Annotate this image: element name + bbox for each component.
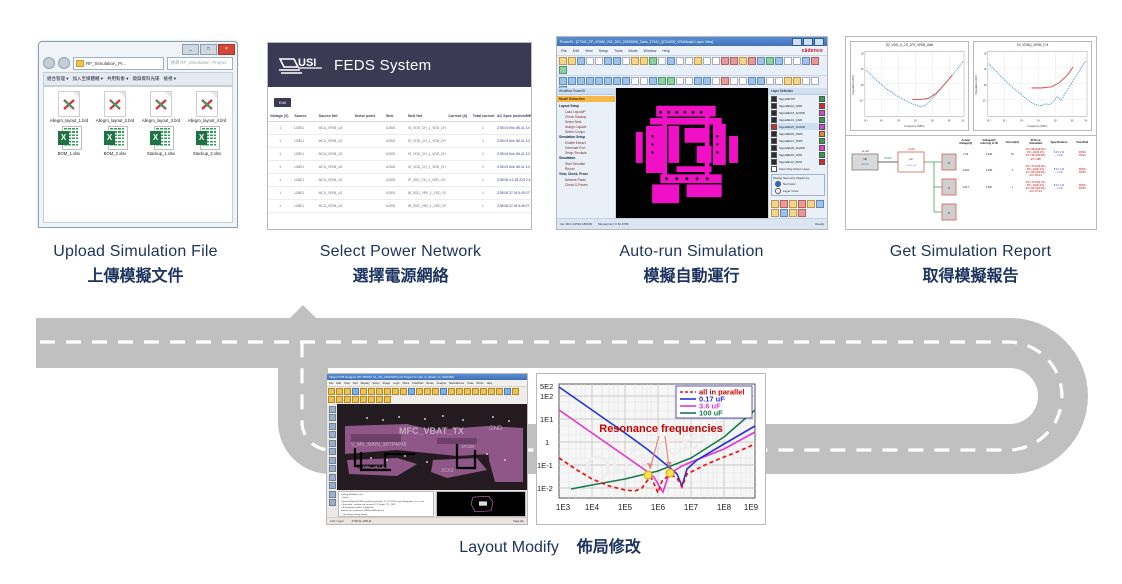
layout-canvas[interactable] — [616, 88, 768, 219]
tool-icon[interactable] — [329, 440, 336, 447]
svg-text:V_MK_MAIN_3P7P4P45: V_MK_MAIN_3P7P4P45 — [351, 442, 407, 448]
xtick-1e5: 1E5 — [618, 503, 633, 512]
layer-color-swatch[interactable] — [819, 117, 825, 123]
layer-row[interactable]: Signal$L08_SH/RD — [769, 144, 827, 151]
cell-sink: U2801 — [384, 174, 406, 187]
layer-color-swatch[interactable] — [819, 124, 825, 130]
list-item[interactable]: X BOM_2.xlsx — [92, 126, 138, 157]
xtick-1e4: 1E4 — [585, 503, 600, 512]
menu-view[interactable]: View — [344, 382, 350, 385]
svg-text:3P33B: 3P33B — [461, 444, 474, 449]
radio-label: Layer Color — [783, 189, 821, 193]
radio-icon[interactable] — [775, 188, 781, 194]
brd-file-icon — [196, 91, 218, 117]
radio-icon[interactable] — [775, 181, 781, 187]
step-label-zh: 選擇電源網絡 — [283, 264, 518, 290]
resonance-marker-2 — [666, 469, 674, 477]
file-name: Allegro_layout_3.brd — [142, 119, 180, 124]
back-icon[interactable] — [43, 57, 55, 69]
table-row[interactable]: 1 U2801 MCU_VR05_U2 U2801 IO_VDD_CH_1_VD… — [268, 122, 531, 135]
workflow-section-model-extraction[interactable]: Model Extraction — [557, 96, 615, 102]
cell-passfail: PASS PASS — [1071, 146, 1094, 162]
cell-voltage: 1 — [268, 148, 292, 161]
layer-row[interactable]: Signal$L06_PWR — [769, 130, 827, 137]
ytick-1e2: 1E2 — [540, 392, 553, 401]
layer-selection-panel[interactable]: Layer Selection Signal$TOP Signal$L02_GN… — [768, 88, 827, 219]
window-title: PowerSI - [C7341_XP_VRAM_V01_D01_2022060… — [560, 40, 789, 44]
col-sink: Sink — [384, 111, 406, 122]
cell-ac-spec: Z:55.06 37.04 5:49.07 100.70 Freq1:1000.… — [495, 187, 531, 200]
command-log[interactable]: e:/allegro/brd/pcb.cmd > Setup Opened /E… — [338, 491, 434, 517]
toolbar-item-addlibrary[interactable]: 加入至媒體櫃 ▾ — [73, 76, 104, 82]
window-controls[interactable]: _ □ × — [182, 44, 235, 55]
pcb-layout-canvas[interactable]: MFC_VBAT_TX GND V_MK_MAIN_3P7P4P45 3P33B… — [337, 404, 527, 490]
cell-sink-net: IO_VDD_CH_1_VDD_CH — [406, 161, 447, 174]
cell-current — [446, 148, 470, 161]
view-only-active-layer-checkbox[interactable]: View Only Active Layer — [769, 165, 827, 172]
menu-mode[interactable]: Mode — [629, 49, 638, 53]
radio-layer-color[interactable]: Layer Color — [773, 187, 823, 194]
layer-color-swatch[interactable] — [819, 159, 825, 165]
table-row: 1.017 1.007 1 dV=-73.64(0.7%) dV=-104(0.… — [954, 179, 1094, 195]
feds-title: FEDS System — [334, 57, 431, 74]
explorer-address-bar: RF_Simulation_Pr... 搜尋 RF_Simulation_Pro… — [43, 56, 233, 70]
cell-drop: dV=-58.94(0.3%) dV=-104(0.1%) dV=-35.94(… — [1024, 146, 1047, 162]
table-header-row: Actual Voltage(V) Voltage(V) referring t… — [954, 138, 1094, 146]
layer-visibility-icon[interactable] — [771, 145, 777, 151]
tool-icon[interactable] — [329, 448, 336, 455]
pcb-bottom-docks: e:/allegro/brd/pcb.cmd > Setup Opened /E… — [337, 490, 527, 518]
list-item[interactable]: Allegro_layout_1.brd — [46, 91, 92, 124]
mouse-coords: Mouse(mm) X 81.3789 — [598, 222, 629, 226]
cadence-menu-bar[interactable]: File Edit View Setup Tools Mode Window H… — [557, 46, 827, 56]
svg-text:U: U — [948, 186, 950, 190]
layer-name: Signal$L10_BTM — [779, 160, 817, 164]
cell-sink-net: IO_VDD_CH_1_VDD_CH — [406, 135, 447, 148]
impedance-chart-2: S2_VDDQ_VR05_174 Impedance (ohm) Frequen… — [973, 41, 1092, 131]
svg-text:USI: USI — [298, 57, 316, 69]
svg-text:10⁰: 10⁰ — [984, 84, 987, 87]
tool-icon[interactable] — [329, 491, 336, 498]
svg-text:Impedance (ohm): Impedance (ohm) — [975, 75, 978, 95]
file-grid: Allegro_layout_1.brd Allegro_layout_2.br… — [44, 87, 232, 161]
file-name: BOM_2.xlsx — [104, 152, 127, 157]
cell-spec: 5.0 / 1 % - / 1 % — [1047, 146, 1070, 162]
cell-ac-spec: Z:55.04 Ib/s: 86.41 3.0 OH Freq1:1000.00 — [495, 122, 531, 135]
xtick-1e8: 1E8 — [717, 503, 732, 512]
menu-skill[interactable]: SKILL — [476, 382, 483, 385]
workflow-panel-title: Workflow PowerSI — [557, 88, 615, 95]
ytick-1: 1 — [545, 438, 549, 447]
cell-voltage: 1 — [268, 174, 292, 187]
layer-row[interactable]: Signal$L02_GND — [769, 102, 827, 109]
cell-source: U2801 — [292, 135, 316, 148]
layer-name: Signal$L07_PWR — [779, 139, 817, 143]
layer-visibility-icon[interactable] — [771, 110, 777, 116]
layer-color-swatch[interactable] — [819, 96, 825, 102]
address-text: RF_Simulation_Pr... — [86, 61, 126, 66]
tool-icon[interactable] — [329, 482, 336, 489]
file-name: Allegro_layout_4.brd — [188, 119, 226, 124]
layer-name: Signal$L03_SH/RD — [779, 111, 817, 115]
col-voltage: Voltage (V) — [268, 111, 292, 122]
cell-current: 1 — [1001, 163, 1024, 179]
table-row[interactable]: 1 U2801 MCU_VR05_U2 U2801 IO_VDD_CH_1_VD… — [268, 135, 531, 148]
svg-text:10²: 10² — [861, 52, 864, 55]
usi-logo-icon: USI — [278, 54, 324, 76]
layer-name: Signal$L05_SH/RD — [779, 125, 817, 129]
step-caption-bottom: Layout Modify 佈局修改 — [380, 533, 720, 557]
col-ac-spec: AC Spec (mohm/MHz) — [495, 111, 531, 122]
checkbox-label: View Only Active Layer — [779, 167, 825, 171]
svg-text:10¹: 10¹ — [1037, 119, 1040, 122]
menu-add[interactable]: Add — [353, 382, 358, 385]
tool-icon[interactable] — [329, 499, 336, 506]
cell-source: U2801 — [292, 174, 316, 187]
cell-source-net: MCU_VR05_U2 — [317, 161, 353, 174]
menu-place[interactable]: Place — [403, 382, 410, 385]
cell-actual: 1.004 — [954, 163, 977, 179]
menu-setup[interactable]: Setup — [599, 49, 608, 53]
address-input[interactable]: RF_Simulation_Pr... — [73, 57, 164, 70]
col-ir-drop: IR Drop Simulated — [1024, 138, 1047, 146]
cell-ac-spec: Z:55.04 Ib/s: 86.41 3.0 OH Freq1:1000.00 — [495, 148, 531, 161]
step-label-en: Select Power Network — [283, 240, 518, 264]
menu-analyze[interactable]: Analyze — [437, 382, 447, 385]
svg-text:10⁴: 10⁴ — [961, 118, 964, 122]
irdrop-schematic: +1.20 VR 1.2 1.2 #VNET -1.20 U2 0 -0.1 1… — [848, 138, 958, 226]
cell-current: 1 — [1001, 179, 1024, 195]
menu-edit[interactable]: Edit — [573, 49, 579, 53]
layer-visibility-icon[interactable] — [771, 159, 777, 165]
svg-text:10³: 10³ — [948, 119, 951, 122]
table-row: 1.20 1.200 45 dV=-58.94(0.3%) dV=-104(0.… — [954, 146, 1094, 162]
layer-visibility-icon[interactable] — [771, 152, 777, 158]
layer-row[interactable]: Signal$L10_BTM — [769, 158, 827, 165]
bottom-step-label: Layout Modify 佈局修改 — [380, 533, 720, 557]
layer-row[interactable]: Signal$L04_GND — [769, 116, 827, 123]
layer-color-swatch[interactable] — [819, 138, 825, 144]
feds-toolbar: Edit — [268, 87, 531, 111]
toolbar-item-shareto[interactable]: 共用對象 ▾ — [107, 76, 129, 82]
step-label-zh: 上傳模擬文件 — [18, 264, 253, 290]
step-label-en: Get Simulation Report — [853, 240, 1088, 264]
cell-sense — [353, 200, 384, 213]
step-caption-4: Get Simulation Report 取得模擬報告 — [853, 240, 1088, 290]
pcb-menu-bar[interactable]: File Edit View Add Display Setup Shape L… — [327, 380, 527, 387]
menu-logic[interactable]: Logic — [393, 382, 399, 385]
cell-total: 1 — [471, 122, 495, 135]
report-irdrop-section: +1.20 VR 1.2 1.2 #VNET -1.20 U2 0 -0.1 1… — [846, 135, 1096, 226]
maximize-icon[interactable]: □ — [200, 44, 217, 55]
version-text: Ver 18.0.4.0501.180606 — [560, 222, 592, 226]
cell-spec: 5.0 / 1 % - / 1 % — [1047, 179, 1070, 195]
tool-icon[interactable] — [329, 474, 336, 481]
svg-text:10²: 10² — [1054, 119, 1057, 122]
cadence-main-area: Workflow PowerSI Model Extraction Layout… — [557, 88, 827, 219]
ready-status: Ready — [815, 222, 824, 226]
layer-row-selected[interactable]: Signal$L05_SH/RD — [769, 123, 827, 130]
cell-ref: 1.000 — [977, 163, 1000, 179]
panel-impedance-resonance-chart: Quadcept Resonance frequencies — [536, 373, 766, 525]
status-right: Stage-Idle — [513, 520, 524, 523]
layer-name: Signal$TOP — [779, 97, 817, 101]
svg-text:Frequency (MHz): Frequency (MHz) — [905, 124, 925, 128]
cadence-brand-logo: cādence — [802, 48, 823, 54]
tool-icon[interactable] — [329, 465, 336, 472]
step-label-en: Auto-run Simulation — [574, 240, 809, 264]
ytick-5e2: 5E2 — [540, 382, 553, 391]
workflow-item-check-s-parameter[interactable]: Check S-Param — [557, 182, 615, 187]
list-item[interactable]: X Stackup_1.xlsx — [138, 126, 184, 157]
col-actual-voltage: Actual Voltage(V) — [954, 138, 977, 146]
bottom-step-zh: 佈局修改 — [577, 539, 641, 556]
menu-file[interactable]: File — [561, 49, 567, 53]
status-left: Cmd > Layer — [330, 520, 344, 523]
step-caption-3: Auto-run Simulation 模擬自動運行 — [574, 240, 809, 290]
cell-sink-net: IO_VDD_CH_1_VDD_CH — [406, 122, 447, 135]
table-row[interactable]: 1 U2801 MCU_VR05_U2 U2801 IP_VDD_CH_1_VD… — [268, 174, 531, 187]
feds-header: USI FEDS System — [268, 43, 531, 87]
checkbox-icon[interactable] — [771, 166, 777, 172]
menu-tools[interactable]: Tools — [467, 382, 473, 385]
layer-visibility-icon[interactable] — [771, 138, 777, 144]
layer-color-swatch[interactable] — [819, 152, 825, 158]
cell-current — [446, 174, 470, 187]
xlsx-file-icon: X — [58, 126, 80, 150]
window-controls[interactable] — [792, 38, 824, 46]
xtick-1e9: 1E9 — [744, 503, 759, 512]
svg-text:GND: GND — [489, 426, 503, 432]
svg-text:10⁴: 10⁴ — [1084, 118, 1087, 122]
cell-total: 1 — [471, 161, 495, 174]
cell-source: U2801 — [292, 161, 316, 174]
close-icon[interactable] — [814, 38, 824, 46]
panel-select-power-network: USI FEDS System Edit Voltage (V) Source … — [267, 42, 532, 230]
layer-name: Signal$L08_SH/RD — [779, 146, 817, 150]
cell-current — [446, 135, 470, 148]
tool-icon[interactable] — [329, 423, 336, 430]
file-name: Allegro_layout_1.brd — [50, 119, 88, 124]
cell-voltage: 1 — [268, 187, 292, 200]
explorer-file-list: Allegro_layout_1.brd Allegro_layout_2.br… — [43, 86, 233, 223]
cell-sink: U2801 — [384, 148, 406, 161]
close-icon[interactable]: × — [218, 44, 235, 55]
layer-row[interactable]: Signal$L09_GND — [769, 151, 827, 158]
table-row[interactable]: 1 U2801 MCU_VR05_U2 U2801 IO_VDD_CH_1_VD… — [268, 148, 531, 161]
svg-text:10¹: 10¹ — [984, 68, 987, 71]
cell-source: U2801 — [292, 148, 316, 161]
cell-sense — [353, 161, 384, 174]
list-item[interactable]: Allegro_layout_2.brd — [92, 91, 138, 124]
menu-display[interactable]: Display — [361, 382, 370, 385]
bottom-step-en: Layout Modify — [459, 539, 559, 556]
menu-edit[interactable]: Edit — [336, 382, 341, 385]
cell-sense — [353, 135, 384, 148]
resonance-annotation-label: Resonance frequencies — [599, 423, 723, 435]
menu-view[interactable]: View — [585, 49, 593, 53]
cell-source-net: MCU_VR05_U2 — [317, 200, 353, 213]
explorer-toolbar[interactable]: 組合管理 ▾ 加入至媒體櫃 ▾ 共用對象 ▾ 燒錄資料光碟 檢視 ▾ — [43, 72, 233, 86]
menu-help[interactable]: Help — [487, 382, 493, 385]
toolbar-item-organize[interactable]: 組合管理 ▾ — [47, 76, 69, 82]
cell-voltage: 1 — [268, 200, 292, 213]
cell-source: U2801 — [292, 187, 316, 200]
menu-route[interactable]: Route — [426, 382, 433, 385]
cell-voltage: 1 — [268, 122, 292, 135]
xlsx-file-icon: X — [104, 126, 126, 150]
ytick-1em2: 1E-2 — [537, 484, 553, 493]
cell-voltage: 1 — [268, 135, 292, 148]
panel-get-simulation-report: S2_VDD_0_CS_1P2_VR05_U8A Impedance (ohm)… — [845, 36, 1097, 230]
forward-icon[interactable] — [58, 57, 70, 69]
xlsx-file-icon: X — [196, 126, 218, 150]
menu-tools[interactable]: Tools — [614, 49, 622, 53]
layer-visibility-icon[interactable] — [771, 96, 777, 102]
svg-text:VR: VR — [863, 157, 867, 161]
maximize-icon[interactable] — [803, 38, 813, 46]
col-pass-fail: Pass/Fail — [1071, 138, 1094, 146]
cell-total: 1 — [471, 148, 495, 161]
cell-sink-net: IB_VDD_VR0_1_VDD_VR0 — [406, 200, 447, 213]
col-current: Current (A) — [446, 111, 470, 122]
list-item[interactable]: Allegro_layout_4.brd — [184, 91, 230, 124]
step-label-en: Upload Simulation File — [18, 240, 253, 264]
cell-sink: U2801 — [384, 161, 406, 174]
search-placeholder: 搜尋 RF_Simulation_Project — [170, 60, 226, 66]
toolbar-item-view[interactable]: 檢視 ▾ — [164, 76, 177, 82]
flow-diagram: _ □ × RF_Simulation_Pr... 搜尋 RF_Simulati… — [0, 0, 1122, 584]
ytick-1e1: 1E1 — [540, 415, 553, 424]
cell-total: 1 — [471, 200, 495, 213]
tool-icon[interactable] — [329, 414, 336, 421]
layer-row[interactable]: Signal$L07_PWR — [769, 137, 827, 144]
svg-text:1.2 1.2: 1.2 1.2 — [861, 163, 869, 166]
menu-help[interactable]: Help — [662, 49, 669, 53]
cell-source-net: MCU_VR05_U2 — [317, 135, 353, 148]
cell-sink: U2801 — [384, 200, 406, 213]
cell-source: U2801 — [292, 122, 316, 135]
toolbar-item-burn[interactable]: 燒錄資料光碟 — [133, 76, 160, 82]
table-row[interactable]: 1 U2801 MCU_VR05_U2 U2801 IB_VDD_VR0_1_V… — [268, 200, 531, 213]
xtick-1e3: 1E3 — [556, 503, 571, 512]
svg-text:10²: 10² — [931, 119, 934, 122]
file-name: Stackup_2.xlsx — [193, 152, 221, 157]
ytick-1em1: 1E-1 — [537, 461, 553, 470]
col-sink-net: Sink Net — [406, 111, 447, 122]
pcb-toolbar-row1[interactable] — [327, 387, 527, 405]
cell-total: 1 — [471, 174, 495, 187]
col-ref-voltage: Voltage(V) referring to IR — [977, 138, 1000, 146]
menu-manufacture[interactable]: Manufacture — [449, 382, 464, 385]
radio-label: Net Color — [783, 182, 821, 186]
menu-setup[interactable]: Setup — [372, 382, 379, 385]
svg-text:#VNET: #VNET — [884, 157, 892, 160]
layer-visibility-icon[interactable] — [771, 103, 777, 109]
xtick-1e7: 1E7 — [684, 503, 699, 512]
cell-source: U2801 — [292, 200, 316, 213]
table-row[interactable]: 1 U2801 MCU_VR05_U2 U2801 IB_VDD_VR0_1_V… — [268, 187, 531, 200]
cell-current — [446, 187, 470, 200]
cell-sense — [353, 122, 384, 135]
svg-text:PMIC_NET_B: PMIC_NET_B — [363, 465, 385, 469]
svg-text:10³: 10³ — [1071, 119, 1074, 122]
layer-visibility-icon[interactable] — [771, 117, 777, 123]
layer-visibility-icon[interactable] — [771, 124, 777, 130]
step-caption-1: Upload Simulation File 上傳模擬文件 — [18, 240, 253, 290]
status-coords: P 390.04, 2059.40 — [352, 520, 372, 523]
layer-color-swatch[interactable] — [819, 145, 825, 151]
list-item[interactable]: X BOM_1.xlsx — [46, 126, 92, 157]
list-item[interactable]: Allegro_layout_3.brd — [138, 91, 184, 124]
layer-color-swatch[interactable] — [819, 110, 825, 116]
step-label-zh: 取得模擬報告 — [853, 264, 1088, 290]
menu-window[interactable]: Window — [644, 49, 657, 53]
layer-color-swatch[interactable] — [819, 103, 825, 109]
file-name: Stackup_1.xlsx — [147, 152, 175, 157]
cell-source-net: MCU_VR05_U2 — [317, 148, 353, 161]
pcb-status-bar: Cmd > Layer P 390.04, 2059.40 Stage-Idle — [327, 517, 527, 524]
svg-text:JCX3: JCX3 — [441, 468, 453, 474]
workflow-panel[interactable]: Workflow PowerSI Model Extraction Layout… — [557, 88, 616, 219]
power-network-table: Voltage (V) Source Source Net Sense poin… — [268, 111, 531, 213]
tool-icon[interactable] — [329, 406, 336, 413]
layer-color-swatch[interactable] — [819, 131, 825, 137]
step-caption-2: Select Power Network 選擇電源網絡 — [283, 240, 518, 290]
layer-visibility-icon[interactable] — [771, 131, 777, 137]
col-current: Current(A) — [1001, 138, 1024, 146]
world-view-mini[interactable] — [436, 491, 526, 517]
folder-icon — [76, 60, 84, 67]
search-input[interactable]: 搜尋 RF_Simulation_Project — [167, 57, 233, 70]
cell-sense — [353, 148, 384, 161]
table-row[interactable]: 1 U2801 MCU_VR05_U2 U2801 IO_VDD_CH_1_VD… — [268, 161, 531, 174]
svg-text:-1.20: -1.20 — [908, 147, 915, 151]
panel-layout-modify-editor: Allegro PCB Designer 16X MPWR_SL_v01_200… — [326, 373, 528, 525]
cadence-toolbar-row1[interactable] — [557, 56, 827, 76]
cell-source-net: MCU_VR05_U2 — [317, 187, 353, 200]
layer-row[interactable]: Signal$L03_SH/RD — [769, 109, 827, 116]
explorer-window: _ □ × RF_Simulation_Pr... 搜尋 RF_Simulati… — [38, 41, 238, 228]
tool-icon[interactable] — [329, 457, 336, 464]
radio-net-color[interactable]: Net Color — [773, 180, 823, 187]
file-name: Allegro_layout_2.brd — [96, 119, 134, 124]
cell-sense — [353, 187, 384, 200]
svg-text:Impedance (ohm): Impedance (ohm) — [852, 75, 855, 95]
minimize-icon[interactable] — [792, 38, 802, 46]
cell-sink: U2801 — [384, 122, 406, 135]
minimize-icon[interactable]: _ — [182, 44, 199, 55]
layer-name: Signal$L09_GND — [779, 153, 817, 157]
xtick-1e6: 1E6 — [651, 503, 666, 512]
edit-button[interactable]: Edit — [274, 98, 291, 107]
svg-text:10⁰: 10⁰ — [861, 84, 864, 87]
menu-shape[interactable]: Shape — [382, 382, 390, 385]
cadence-status-bar: Ver 18.0.4.0501.180606 Mouse(mm) X 81.37… — [557, 218, 827, 229]
svg-text:10²: 10² — [984, 52, 987, 55]
table-body: 1 U2801 MCU_VR05_U2 U2801 IO_VDD_CH_1_VD… — [268, 122, 531, 213]
svg-text:10⁰: 10⁰ — [897, 119, 900, 122]
list-item[interactable]: X Stackup_2.xlsx — [184, 126, 230, 157]
menu-file[interactable]: File — [329, 382, 333, 385]
svg-text:10⁰: 10⁰ — [1020, 119, 1023, 122]
svg-text:MFC_VBAT_TX: MFC_VBAT_TX — [399, 426, 464, 436]
cell-voltage: 1 — [268, 161, 292, 174]
layer-row[interactable]: Signal$TOP — [769, 95, 827, 102]
cell-sense — [353, 174, 384, 187]
tool-icon[interactable] — [329, 431, 336, 438]
menu-flowplan[interactable]: FlowPlan — [412, 382, 423, 385]
